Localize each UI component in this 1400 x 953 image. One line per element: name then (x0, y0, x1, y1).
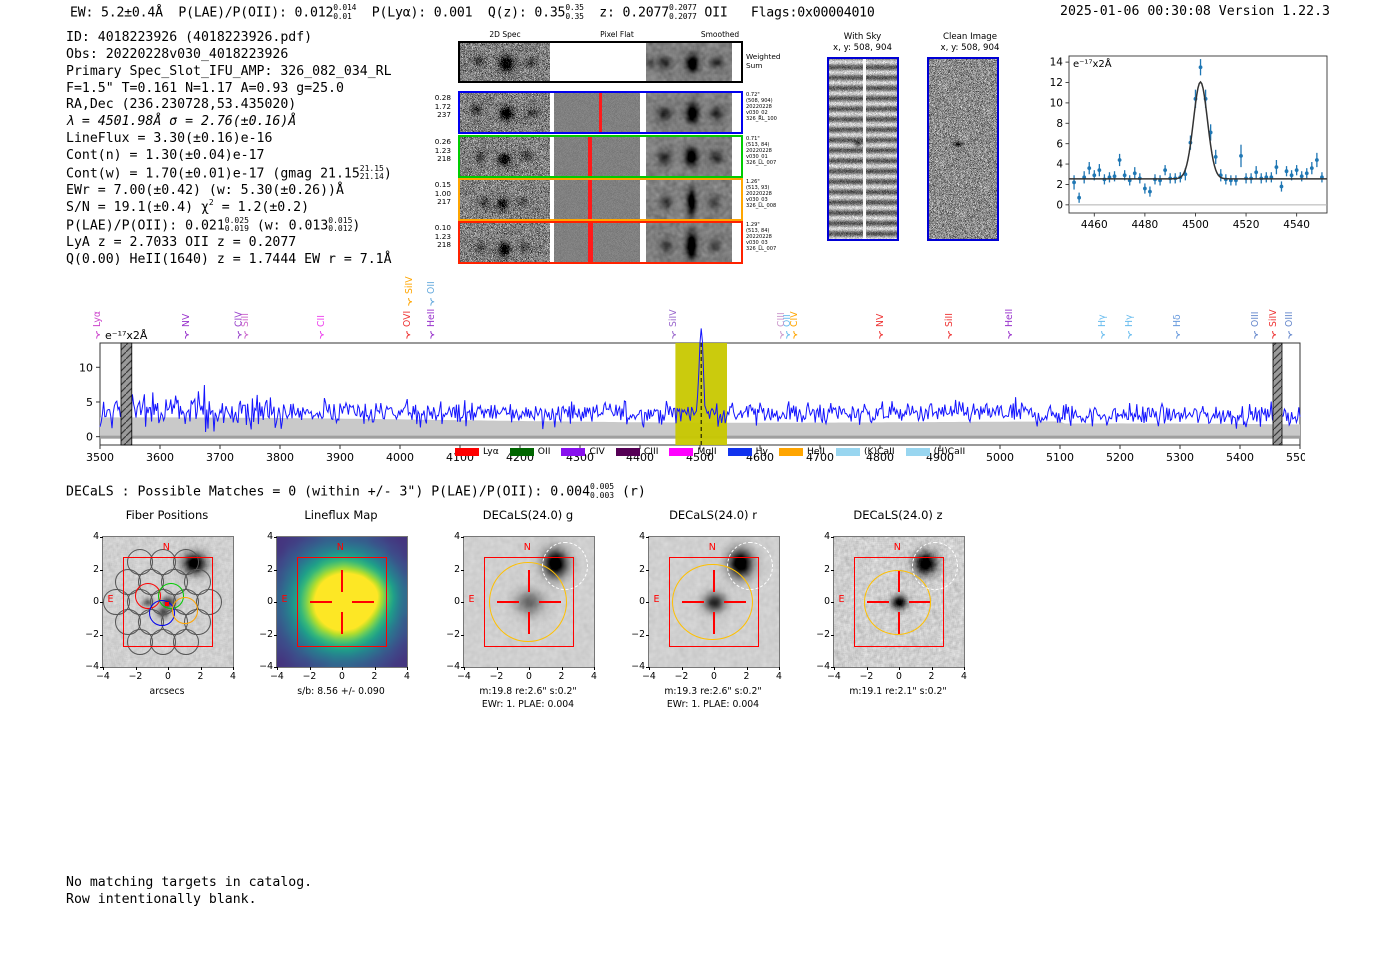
emission-line-bracket (880, 331, 883, 339)
emission-line-bracket (1255, 331, 1258, 339)
cutout-x-tick (497, 667, 498, 670)
ew-label: EW: (70, 6, 93, 21)
legend-swatch (561, 448, 585, 456)
cutout-y-tick-label: −2 (442, 629, 460, 640)
north-marker: N (337, 542, 344, 553)
emission-line-bracket (1102, 331, 1105, 339)
info-sn-chi2: S/N = 19.1(±0.4) χ2 = 1.2(±0.2) (66, 200, 392, 217)
cutout-y-tick-label: 4 (442, 531, 460, 542)
emission-line-bracket (431, 331, 434, 339)
cutout-panel: DECaLS(24.0) rNE−4−2024420−2−4m:19.3 re:… (620, 508, 795, 718)
east-marker: E (839, 594, 845, 605)
legend-label: Lyα (483, 446, 499, 457)
emission-line-marker: Hγ (1097, 314, 1108, 339)
spectrum-y-tick-label: 10 (79, 361, 93, 374)
emission-line-bracket (787, 331, 790, 339)
companion-ellipse (542, 542, 588, 590)
cutout-x-tick-label: 2 (552, 671, 572, 682)
cutout-y-tick-label: 0 (81, 596, 99, 607)
cutout-x-tick-label: 2 (922, 671, 942, 682)
cutout-x-tick-label: −2 (857, 671, 877, 682)
y-tick-label: 14 (1050, 57, 1064, 69)
cutout-x-tick-label: 4 (397, 671, 417, 682)
cutout-x-tick (682, 667, 683, 670)
emission-line-marker: NV (875, 313, 886, 339)
emission-line-marker: HeII (1004, 309, 1015, 339)
spectrum-x-tick-label: 3500 (86, 451, 114, 464)
cutout-x-tick-label: 4 (769, 671, 789, 682)
legend-label: CIII (644, 446, 659, 457)
twod-strip-spec (460, 223, 550, 262)
legend-item: Hy (728, 446, 768, 457)
emission-line-bracket (794, 331, 797, 339)
cutout-y-tick-label: −2 (81, 629, 99, 640)
cutout-x-tick-label: 0 (889, 671, 909, 682)
spectrum-x-tick-label: 3800 (266, 451, 294, 464)
data-point (1285, 169, 1289, 173)
north-marker: N (709, 542, 716, 553)
pixel-flat-marker (599, 93, 602, 132)
cutout-x-tick-label: 4 (223, 671, 243, 682)
legend-swatch (906, 448, 930, 456)
spectrum-units-annotation: e⁻¹⁷x2Å (105, 329, 148, 342)
emission-line-bracket (185, 331, 188, 339)
data-point (1133, 171, 1137, 175)
cutout-caption-secondary: EWr: 1. PLAE: 0.004 (623, 699, 803, 711)
companion-ellipse (912, 542, 958, 590)
emission-line-marker: SiIV (668, 309, 679, 339)
legend-swatch (510, 448, 534, 456)
twod-strip-sm (646, 223, 732, 262)
spectrum-legend: LyαOIICIVCIIIMgIIHyHeII(K)CaII(H)CaII (455, 446, 976, 457)
cutout-x-tick (867, 667, 868, 670)
sky-clean-panel: With Sky x, y: 508, 904 Clean Image x, y… (815, 30, 1020, 260)
cutout-y-tick (831, 602, 834, 603)
cutout-y-tick-label: 4 (81, 531, 99, 542)
data-point (1214, 155, 1218, 159)
cutout-caption-primary: s/b: 8.56 +/- 0.090 (251, 686, 431, 698)
cutout-x-tick (594, 667, 595, 670)
cutout-x-tick (747, 667, 748, 670)
y-tick-label: 8 (1056, 118, 1063, 130)
twod-strip-spec (460, 43, 550, 81)
cutout-x-tick-label: 0 (519, 671, 539, 682)
emission-line-label: CIV (234, 311, 245, 327)
emission-line-marker: CIII (776, 312, 787, 338)
cutout-y-tick-label: −4 (255, 661, 273, 672)
cutout-title: DECaLS(24.0) r (620, 508, 806, 522)
z-lo: 0.2077 (669, 12, 697, 21)
emission-line-bracket (949, 331, 952, 339)
legend-swatch (455, 448, 479, 456)
cutout-y-tick-label: −2 (627, 629, 645, 640)
fiber-meta: 1.29"(513, 84)20220228v030_03326_LL_007 (746, 222, 806, 252)
fiber-meta: 0.72"(508, 904)20220228v030_02326_RL_100 (746, 92, 806, 122)
cutout-y-tick (646, 602, 649, 603)
emission-line-label: OIII (1250, 311, 1261, 327)
spectrum-x-tick-label: 5500 (1286, 451, 1305, 464)
emission-line-marker: OIII (1284, 311, 1295, 338)
pixel-flat-marker (588, 137, 592, 176)
data-point (1275, 165, 1279, 169)
emission-line-marker: Lyα (92, 311, 103, 339)
emission-line-marker: CIV (234, 311, 245, 339)
clean-image-title: Clean Image x, y: 508, 904 (920, 32, 1020, 54)
legend-label: (K)CaII (864, 446, 895, 457)
cutout-y-tick (461, 570, 464, 571)
cutout-y-tick-label: 0 (255, 596, 273, 607)
emission-line-marker: HeII (426, 309, 437, 339)
cutout-y-tick-label: 2 (81, 564, 99, 575)
cutout-y-tick (274, 537, 277, 538)
twod-title-pixelflat: Pixel Flat (567, 30, 667, 39)
fiber-stats: 0.281.72237 (395, 94, 451, 120)
z-label: z: (599, 6, 614, 21)
emission-line-marker: OIII (1250, 311, 1261, 338)
masked-region (121, 343, 132, 445)
cutout-y-tick-label: 4 (627, 531, 645, 542)
emission-line-bracket (320, 331, 323, 339)
with-sky-title: With Sky x, y: 508, 904 (815, 32, 910, 54)
cutout-y-tick (461, 667, 464, 668)
east-marker: E (282, 594, 288, 605)
cutout-y-tick (461, 602, 464, 603)
cutout-x-tick-label: −4 (454, 671, 474, 682)
clean-image-canvas (929, 59, 997, 239)
cutout-panel: DECaLS(24.0) zNE−4−2024420−2−4m:19.1 re:… (805, 508, 980, 718)
cutout-x-tick-label: −4 (824, 671, 844, 682)
spectrum-x-tick-label: 5400 (1226, 451, 1254, 464)
data-point (1300, 174, 1304, 178)
spectrum-x-tick-label: 4000 (386, 451, 414, 464)
info-redshifts: LyA z = 2.7033 OII z = 0.2077 (66, 235, 392, 252)
cutout-x-tick-label: 2 (365, 671, 385, 682)
emission-line-bracket (673, 331, 676, 339)
cutout-y-tick-label: 2 (627, 564, 645, 575)
cutout-x-tick-label: 4 (584, 671, 604, 682)
cutout-x-tick (562, 667, 563, 670)
info-cont-n: Cont(n) = 1.30(±0.04)e-17 (66, 148, 392, 165)
info-primary-spec: Primary Spec_Slot_IFU_AMP: 326_082_034_R… (66, 64, 392, 81)
legend-item: HeII (779, 446, 825, 457)
aperture-box (123, 557, 213, 647)
legend-swatch (669, 448, 693, 456)
twod-strip-spec (460, 180, 550, 219)
legend-item: CIII (616, 446, 659, 457)
spectrum-x-tick-label: 5000 (986, 451, 1014, 464)
qz-lo: 0.35 (565, 12, 583, 21)
cutout-x-tick (779, 667, 780, 670)
decals-match-line: DECaLS : Possible Matches = 0 (within +/… (66, 483, 646, 500)
cutout-y-tick (831, 667, 834, 668)
info-obs: Obs: 20220228v030_4018223926 (66, 47, 392, 64)
cutout-x-tick (529, 667, 530, 670)
cutout-y-tick (646, 570, 649, 571)
x-tick-label: 4480 (1132, 219, 1159, 231)
legend-item: Lyα (455, 446, 499, 457)
y-tick-label: 4 (1056, 159, 1063, 171)
data-point (1148, 190, 1152, 194)
flux-units-annotation: e⁻¹⁷x2Å (1073, 57, 1112, 70)
cutout-y-tick (646, 667, 649, 668)
cutout-x-tick (310, 667, 311, 670)
emission-line-label: Hδ (1172, 314, 1183, 327)
emission-line-label: CII (316, 315, 327, 327)
cutout-y-tick (274, 635, 277, 636)
x-tick-label: 4500 (1182, 219, 1209, 231)
twod-strip-flat (554, 137, 640, 176)
emission-line-label: CIII (776, 312, 787, 327)
cutout-y-tick-label: −4 (627, 661, 645, 672)
spectrum-x-tick-label: 5100 (1046, 451, 1074, 464)
fiber-stats: 0.261.23218 (395, 138, 451, 164)
fiber-meta: 1.26"(513, 93)20220228v030_03326_LL_008 (746, 179, 806, 209)
twod-strip-flat (554, 180, 640, 219)
bottom-note-line1: No matching targets in catalog. (66, 874, 312, 891)
y-tick-label: 0 (1056, 199, 1063, 211)
legend-label: CIV (589, 446, 604, 457)
spectrum-x-tick-label: 5300 (1166, 451, 1194, 464)
cutout-x-tick-label: 4 (954, 671, 974, 682)
plae-value: 0.012 (294, 6, 333, 21)
fiber-stats: 0.151.00217 (395, 181, 451, 207)
emission-line-marker: OVI (402, 311, 413, 339)
cutout-title: DECaLS(24.0) g (435, 508, 621, 522)
y-tick-label: 2 (1056, 179, 1063, 191)
spectrum-x-tick-label: 3600 (146, 451, 174, 464)
clean-image (927, 57, 999, 241)
plae-label: P(LAE)/P(OII): (178, 6, 286, 21)
x-tick-label: 4520 (1233, 219, 1260, 231)
cutout-y-tick (831, 635, 834, 636)
emission-line-label: NV (875, 313, 886, 327)
emission-line-label: SiIV (668, 309, 679, 327)
emission-line-marker: OII (426, 281, 437, 305)
emission-line-label: OVI (402, 311, 413, 327)
emission-line-bracket (1009, 331, 1012, 339)
cutout-x-tick-label: −4 (267, 671, 287, 682)
info-cont-w: Cont(w) = 1.70(±0.01)e-17 (gmag 21.1521.… (66, 165, 392, 183)
flags-label: Flags:0x00004010 (751, 6, 875, 21)
qz-label: Q(z): (488, 6, 527, 21)
twod-strip-flat (554, 223, 640, 262)
data-point (1113, 174, 1117, 178)
cutout-x-tick-label: 0 (332, 671, 352, 682)
cutout-caption-secondary: EWr: 1. PLAE: 0.004 (438, 699, 618, 711)
data-point (1199, 65, 1203, 69)
legend-item: CIV (561, 446, 604, 457)
cutout-x-tick-label: 0 (704, 671, 724, 682)
cutout-y-tick (831, 570, 834, 571)
spectrum-y-tick-label: 0 (86, 431, 93, 444)
emission-line-bracket (1273, 331, 1276, 339)
plya-label: P(Lyα): (372, 6, 426, 21)
emission-line-marker: SiIV (1268, 309, 1279, 339)
crosshair-arm (341, 612, 342, 634)
spectrum-x-tick-label: 3900 (326, 451, 354, 464)
cutout-title: Fiber Positions (74, 508, 260, 522)
cutout-caption-primary: m:19.1 re:2.1" s:0.2" (808, 686, 988, 698)
with-sky-image-canvas (829, 59, 897, 239)
cutout-y-tick (831, 537, 834, 538)
cutout-title: Lineflux Map (248, 508, 434, 522)
cutout-panel: Lineflux MapNE−4−2024420−2−4s/b: 8.56 +/… (248, 508, 423, 718)
cutout-panel: Fiber PositionsNE−4−2024420−2−4arcsecs (74, 508, 249, 718)
legend-item: (K)CaII (836, 446, 895, 457)
cutout-x-tick (375, 667, 376, 670)
info-plae: P(LAE)/P(OII): 0.0210.0250.019 (w: 0.013… (66, 217, 392, 235)
data-point (1092, 173, 1096, 177)
cutout-y-tick-label: 2 (442, 564, 460, 575)
cutout-x-tick (103, 667, 104, 670)
cutout-y-tick (100, 667, 103, 668)
z-value: 0.2077 (623, 6, 669, 21)
cutout-y-tick-label: −2 (812, 629, 830, 640)
cutout-x-tick (233, 667, 234, 670)
cutout-x-tick (464, 667, 465, 670)
emission-line-bracket (781, 331, 784, 339)
cutout-y-tick-label: 4 (812, 531, 830, 542)
data-point (1315, 158, 1319, 162)
cutout-y-tick (274, 570, 277, 571)
cutout-caption-primary: m:19.3 re:2.6" s:0.2" (623, 686, 803, 698)
fiber-stats: 0.101.23218 (395, 224, 451, 250)
cutout-x-tick-label: −2 (126, 671, 146, 682)
cutout-x-tick (932, 667, 933, 670)
legend-swatch (616, 448, 640, 456)
north-marker: N (163, 542, 170, 553)
data-point (1163, 168, 1167, 172)
cutout-y-tick (274, 602, 277, 603)
emission-line-bracket (1289, 331, 1292, 339)
spectrum-x-tick-label: 5200 (1106, 451, 1134, 464)
cutout-y-tick (100, 537, 103, 538)
data-point (1077, 196, 1081, 200)
cutout-x-tick (834, 667, 835, 670)
header-summary-line: EW: 5.2±0.4Å P(LAE)/P(OII): 0.0120.0140.… (70, 4, 875, 21)
legend-item: (H)CaII (906, 446, 966, 457)
cutout-y-tick (646, 537, 649, 538)
cutout-y-tick-label: −2 (255, 629, 273, 640)
cutout-x-tick (899, 667, 900, 670)
y-tick-label: 12 (1050, 77, 1063, 89)
data-point (1072, 181, 1076, 185)
spectrum-y-tick-label: 5 (86, 396, 93, 409)
data-point (1295, 168, 1299, 172)
cutout-y-tick-label: −4 (442, 661, 460, 672)
legend-label: (H)CaII (934, 446, 966, 457)
cutout-y-tick (100, 570, 103, 571)
cutout-x-tick-label: 2 (737, 671, 757, 682)
data-point (1310, 166, 1314, 170)
legend-item: MgII (669, 446, 716, 457)
data-point (1280, 185, 1284, 189)
y-tick-label: 10 (1050, 97, 1063, 109)
emission-line-bracket (97, 331, 100, 339)
timestamp-version: 2025-01-06 00:30:08 Version 1.22.3 (1060, 4, 1330, 19)
zoom-plot-svg: 4460448045004520454002468101214e⁻¹⁷x2Å (1035, 38, 1335, 243)
cutout-x-tick-label: 2 (191, 671, 211, 682)
cutout-y-tick (461, 635, 464, 636)
emission-line-marker: CII (316, 315, 327, 339)
twod-strip-flat (554, 93, 640, 132)
twod-spec-panel: 2D Spec Pixel Flat Smoothed WeightedSum0… (425, 30, 800, 260)
pixel-flat-marker (588, 223, 593, 262)
cutout-x-tick (277, 667, 278, 670)
cutout-caption-primary: arcsecs (77, 686, 257, 698)
cutout-y-tick (646, 635, 649, 636)
data-point (1118, 158, 1122, 162)
emission-line-marker: Hγ (1124, 314, 1135, 339)
cutout-row: Fiber PositionsNE−4−2024420−2−4arcsecsLi… (60, 508, 1020, 718)
emission-line-label: SiIV (1268, 309, 1279, 327)
legend-swatch (836, 448, 860, 456)
emission-line-label: SiII (944, 313, 955, 327)
emission-line-label: SiIV (404, 276, 415, 294)
cutout-x-tick (136, 667, 137, 670)
data-point (1254, 170, 1258, 174)
emission-line-bracket (431, 298, 434, 306)
east-marker: E (469, 594, 475, 605)
legend-label: Hy (756, 446, 768, 457)
with-sky-image (827, 57, 899, 241)
zoomed-line-plot: 4460448045004520454002468101214e⁻¹⁷x2Å (1035, 38, 1335, 243)
emission-line-bracket (407, 331, 410, 339)
cutout-x-tick (714, 667, 715, 670)
z-species: OII (704, 6, 727, 21)
plya-value: 0.001 (434, 6, 473, 21)
cutout-x-tick (407, 667, 408, 670)
cutout-x-tick (964, 667, 965, 670)
twod-strip-sm (646, 180, 732, 219)
x-tick-label: 4540 (1283, 219, 1310, 231)
cutout-x-tick-label: −2 (300, 671, 320, 682)
info-ewr: EWr = 7.00(±0.42) (w: 5.30(±0.26))Å (66, 183, 392, 200)
twod-strip-sm (646, 137, 732, 176)
cutout-x-tick-label: −4 (93, 671, 113, 682)
emission-line-label: OIII (1284, 311, 1295, 327)
cutout-y-tick-label: 2 (812, 564, 830, 575)
data-point (1305, 171, 1309, 175)
x-tick-label: 4460 (1081, 219, 1108, 231)
cutout-title: DECaLS(24.0) z (805, 508, 991, 522)
full-spectrum-plot: 0510350036003700380039004000410042004300… (70, 275, 1305, 475)
twod-strip-spec (460, 137, 550, 176)
emission-line-marker: SiII (944, 313, 955, 339)
cutout-y-tick (100, 635, 103, 636)
data-point (1239, 154, 1243, 158)
emission-line-marker: Hδ (1172, 314, 1183, 339)
cutout-y-tick-label: 0 (812, 596, 830, 607)
fiber-meta: 0.71"(513, 84)20220228v030_01326_LL_007 (746, 136, 806, 166)
cutout-y-tick-label: 0 (627, 596, 645, 607)
emission-line-label: NV (181, 313, 192, 327)
data-point (1097, 168, 1101, 172)
north-marker: N (524, 542, 531, 553)
pixel-flat-marker (588, 180, 592, 219)
emission-line-marker: SiIV (404, 276, 415, 306)
cutout-y-tick (100, 602, 103, 603)
target-info-block: ID: 4018223926 (4018223926.pdf) Obs: 202… (66, 30, 392, 269)
cutout-x-tick-label: −2 (672, 671, 692, 682)
twod-strip-spec (460, 93, 550, 132)
emission-line-bracket (409, 298, 412, 306)
cutout-y-tick (461, 537, 464, 538)
emission-line-marker: NV (181, 313, 192, 339)
emission-line-bracket (245, 331, 248, 339)
info-seeing: F=1.5" T=0.161 N=1.17 A=0.93 g=25.0 (66, 81, 392, 98)
twod-strip-sm (646, 43, 732, 81)
